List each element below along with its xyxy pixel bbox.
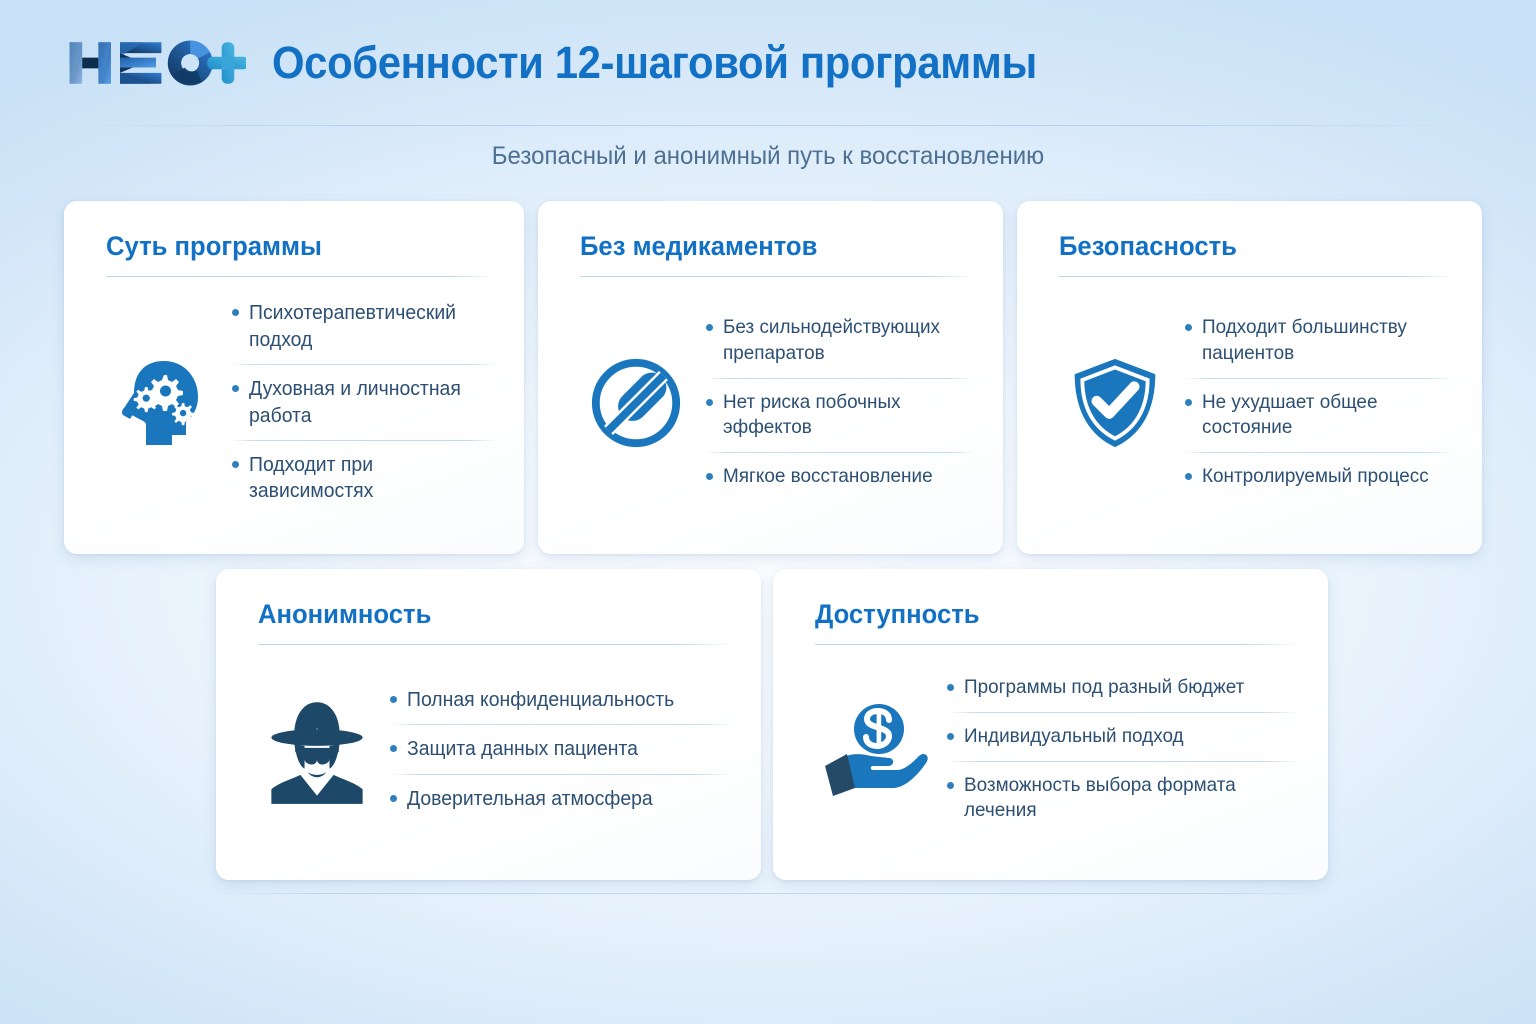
- bullet-dot-icon: [232, 309, 239, 316]
- bullet-dot-icon: [706, 324, 713, 331]
- bullet-dot-icon: [232, 461, 239, 468]
- bullet-list: Полная конфиденциальность Защита данных …: [390, 676, 733, 823]
- list-item: Индивидуальный подход: [947, 713, 1300, 761]
- shield-check-icon: [1059, 347, 1171, 459]
- card-title: Без медикаментов: [580, 231, 955, 262]
- bullet-list: Подходит большинству пациентов Не ухудша…: [1185, 304, 1454, 501]
- list-item: Доверительная атмосфера: [390, 775, 733, 823]
- list-item: Программы под разный бюджет: [947, 664, 1300, 712]
- bullet-text: Подходит большинству пациентов: [1202, 315, 1446, 366]
- bullet-dot-icon: [232, 385, 239, 392]
- cards-row-top: Суть программы: [64, 201, 1482, 554]
- bullet-list: Психотерапевтический подход Духовная и л…: [232, 289, 496, 515]
- list-item: Подходит при зависимостях: [232, 441, 496, 516]
- bullet-dot-icon: [706, 473, 713, 480]
- anonymous-spy-icon: [258, 688, 376, 812]
- bullet-dot-icon: [947, 782, 954, 789]
- card-bezopasnost[interactable]: Безопасность Подходит большинству пациен…: [1017, 201, 1482, 554]
- bullet-dot-icon: [1185, 399, 1192, 406]
- bullet-text: Не ухудшает общее состояние: [1202, 390, 1446, 441]
- bullet-text: Полная конфиденциальность: [407, 687, 674, 713]
- list-item: Нет риска побочных эффектов: [706, 379, 975, 452]
- cards-row-bottom: Анонимность: [216, 569, 1328, 880]
- card-title: Анонимность: [258, 599, 709, 630]
- bullet-list: Без сильнодействующих препаратов Нет рис…: [706, 304, 975, 501]
- list-item: Контролируемый процесс: [1185, 453, 1454, 501]
- list-item: Психотерапевтический подход: [232, 289, 496, 364]
- page-title: Особенности 12-шаговой программы: [272, 37, 1037, 89]
- bullet-text: Защита данных пациента: [407, 736, 638, 762]
- card-bez-medikamentov[interactable]: Без медикаментов Без сильно: [538, 201, 1003, 554]
- bullet-dot-icon: [1185, 324, 1192, 331]
- bullet-dot-icon: [1185, 473, 1192, 480]
- card-sut-programmy[interactable]: Суть программы: [64, 201, 524, 554]
- bullet-text: Мягкое восстановление: [723, 464, 933, 490]
- bullet-text: Без сильнодействующих препаратов: [723, 315, 967, 366]
- header-divider: [60, 125, 1476, 126]
- bullet-dot-icon: [390, 696, 397, 703]
- list-item: Возможность выбора формата лечения: [947, 762, 1300, 835]
- hand-coin-icon: [815, 688, 933, 812]
- footer-divider: [215, 893, 1325, 894]
- no-pills-icon: [580, 347, 692, 459]
- heo-plus-logo-icon: [66, 35, 246, 91]
- list-item: Подходит большинству пациентов: [1185, 304, 1454, 377]
- bullet-text: Контролируемый процесс: [1202, 464, 1429, 490]
- card-title: Безопасность: [1059, 231, 1434, 262]
- card-anonimnost[interactable]: Анонимность: [216, 569, 761, 880]
- list-item: Духовная и личностная работа: [232, 365, 496, 440]
- bullet-dot-icon: [390, 795, 397, 802]
- bullet-dot-icon: [947, 733, 954, 740]
- bullet-text: Духовная и личностная работа: [249, 376, 489, 429]
- bullet-dot-icon: [706, 399, 713, 406]
- list-item: Без сильнодействующих препаратов: [706, 304, 975, 377]
- list-item: Защита данных пациента: [390, 725, 733, 773]
- card-title: Суть программы: [106, 231, 477, 262]
- head-gears-icon: [106, 347, 218, 459]
- bullet-text: Возможность выбора формата лечения: [964, 773, 1290, 824]
- bullet-text: Индивидуальный подход: [964, 724, 1184, 750]
- bullet-dot-icon: [947, 684, 954, 691]
- list-item: Не ухудшает общее состояние: [1185, 379, 1454, 452]
- card-dostupnost[interactable]: Доступность: [773, 569, 1328, 880]
- page-subtitle: Безопасный и анонимный путь к восстановл…: [31, 142, 1506, 171]
- list-item: Полная конфиденциальность: [390, 676, 733, 724]
- bullet-list: Программы под разный бюджет Индивидуальн…: [947, 664, 1300, 835]
- bullet-text: Нет риска побочных эффектов: [723, 390, 967, 441]
- bullet-text: Психотерапевтический подход: [249, 300, 489, 353]
- card-title: Доступность: [815, 599, 1276, 630]
- list-item: Мягкое восстановление: [706, 453, 975, 501]
- bullet-text: Доверительная атмосфера: [407, 786, 653, 812]
- bullet-text: Программы под разный бюджет: [964, 675, 1244, 701]
- bullet-dot-icon: [390, 745, 397, 752]
- page-header: Особенности 12-шаговой программы: [0, 0, 1536, 126]
- bullet-text: Подходит при зависимостях: [249, 452, 489, 505]
